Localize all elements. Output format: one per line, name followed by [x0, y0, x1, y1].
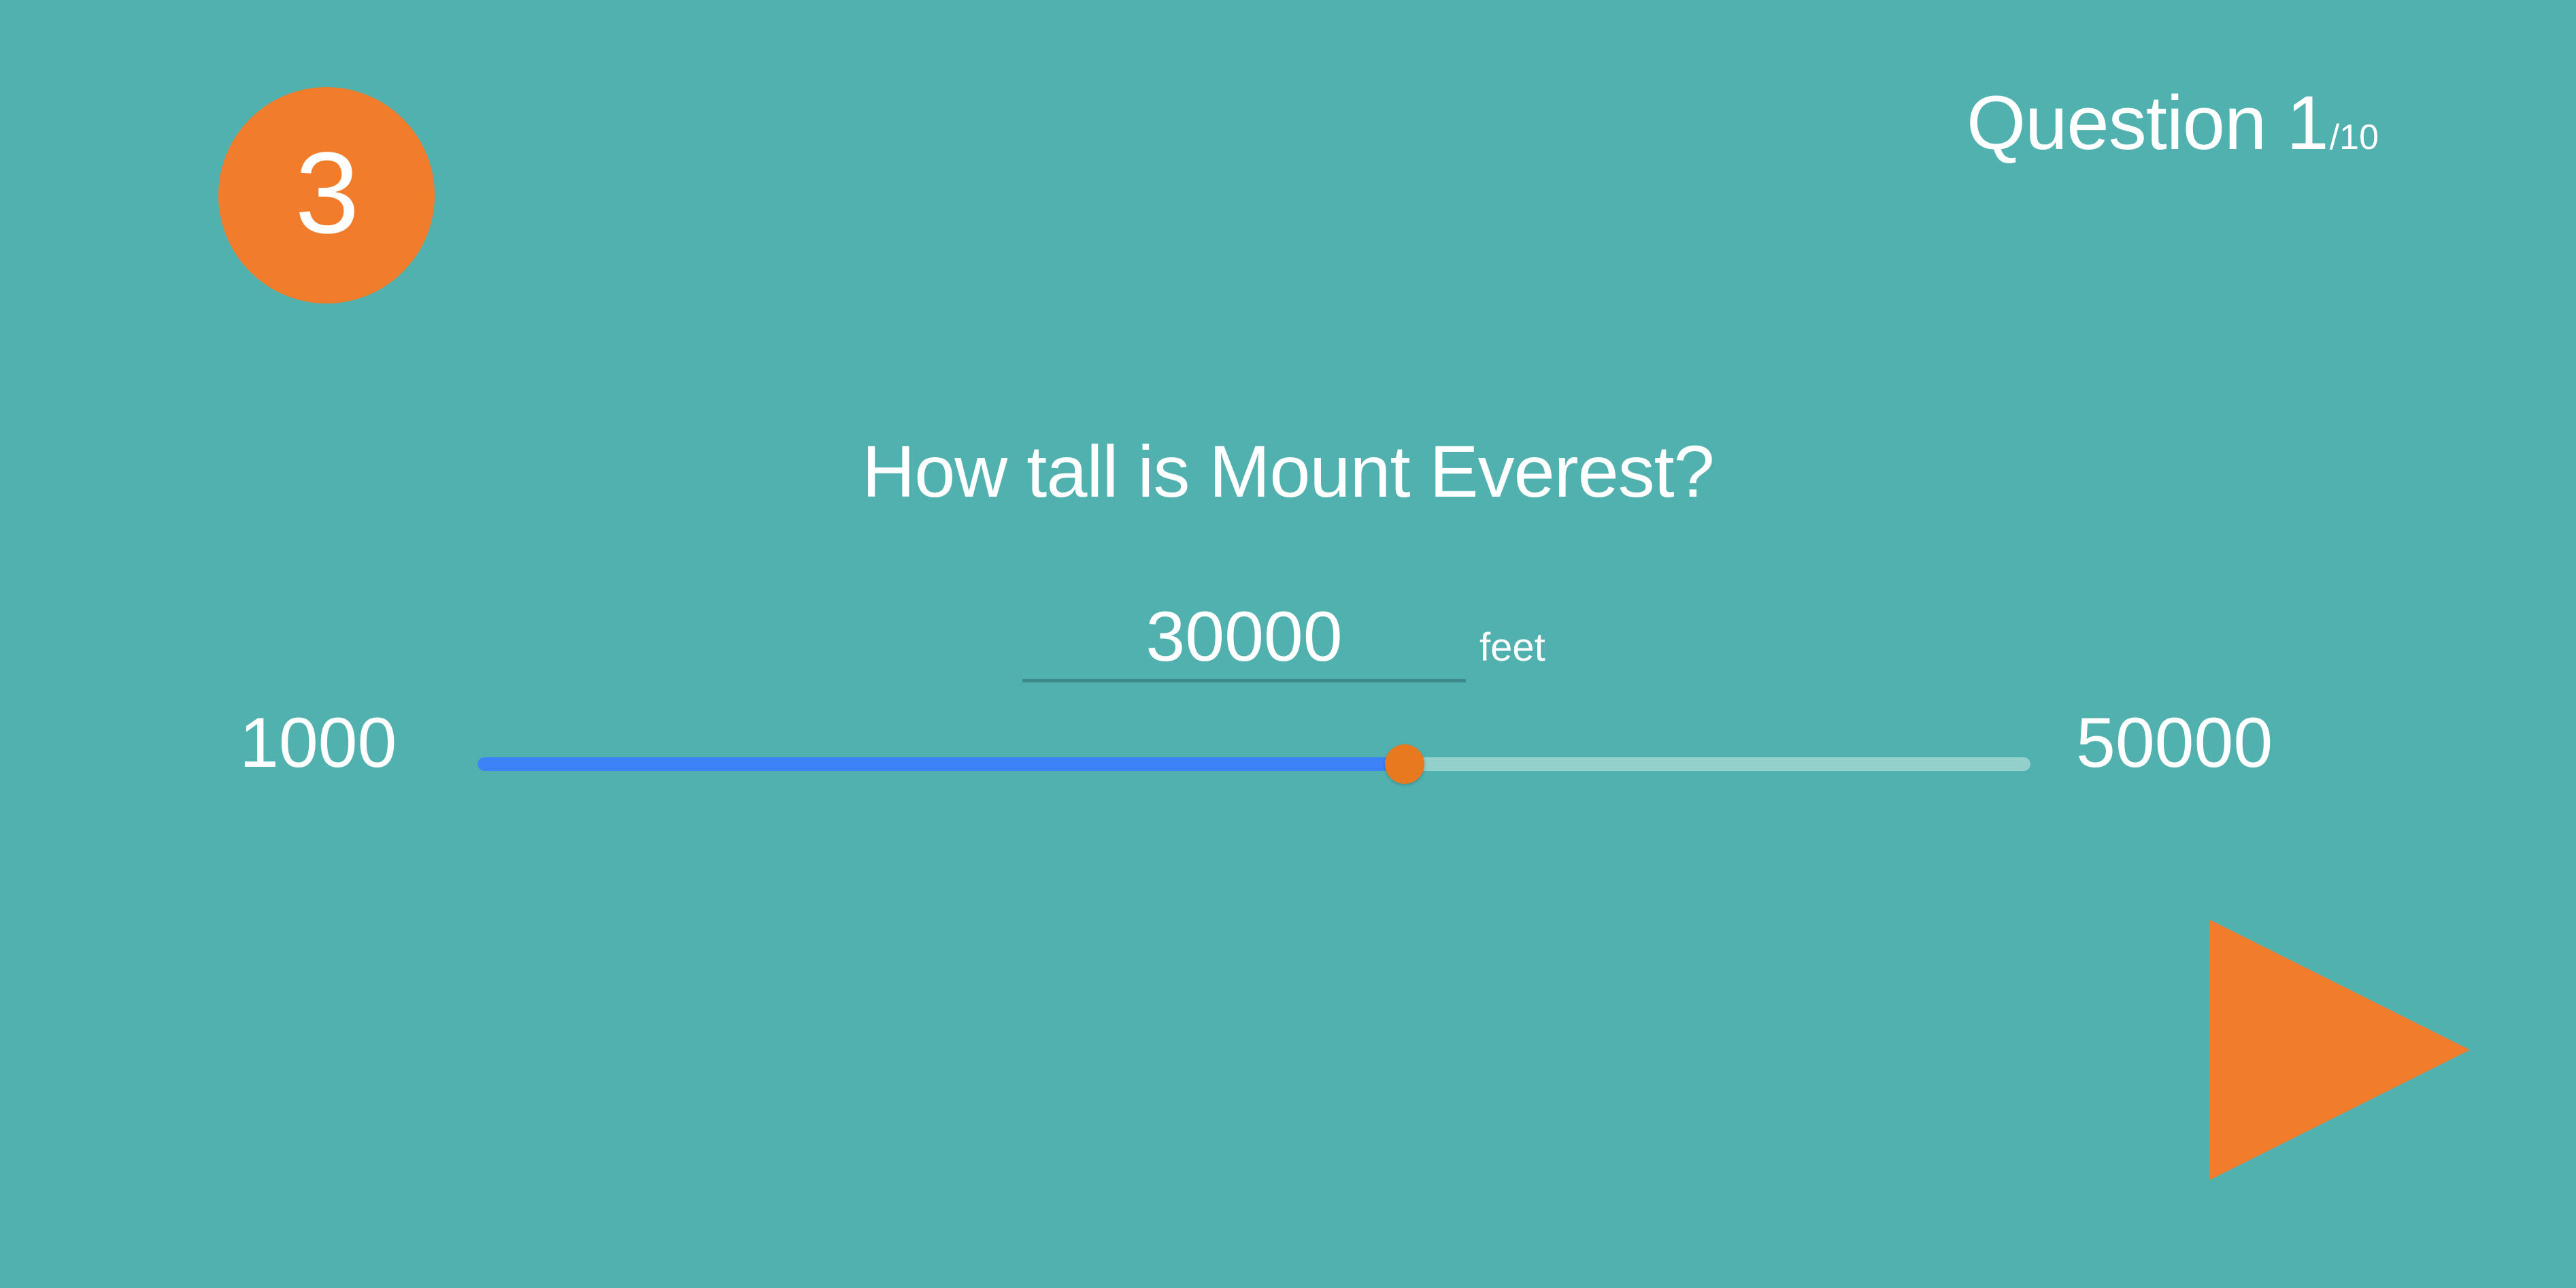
question-counter: Question 1 /10	[1967, 85, 2379, 161]
answer-row: feet	[1022, 599, 1545, 682]
countdown-timer-badge: 3	[218, 87, 435, 303]
question-counter-total: /10	[2330, 120, 2379, 155]
answer-input[interactable]	[1022, 599, 1466, 675]
play-triangle-icon	[2210, 920, 2470, 1180]
next-question-button[interactable]	[2210, 920, 2470, 1180]
slider-min-label: 1000	[239, 708, 397, 778]
countdown-timer-value: 3	[295, 135, 358, 251]
answer-input-wrapper[interactable]	[1022, 599, 1466, 682]
slider-row: 1000 50000	[0, 708, 2576, 823]
slider-track-active[interactable]	[478, 757, 1405, 771]
quiz-screen: 3 Question 1 /10 How tall is Mount Evere…	[0, 0, 2576, 1288]
question-prompt: How tall is Mount Everest?	[0, 425, 2576, 517]
answer-unit-label: feet	[1479, 628, 1545, 682]
slider-thumb[interactable]	[1385, 744, 1424, 784]
question-counter-label: Question 1	[1967, 85, 2328, 161]
slider-max-label: 50000	[2076, 708, 2273, 778]
answer-slider[interactable]	[478, 757, 2030, 771]
